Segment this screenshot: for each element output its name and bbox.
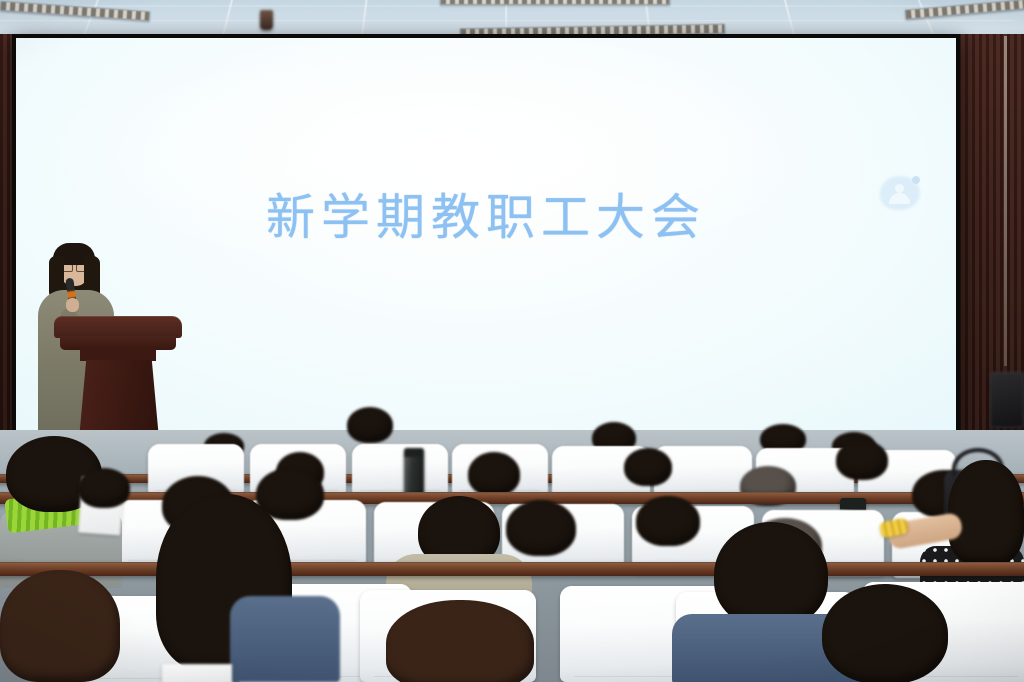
attendee-head xyxy=(948,460,1024,564)
podium-neck xyxy=(80,349,156,361)
ceiling-speaker xyxy=(260,10,273,30)
attendee-head xyxy=(386,600,534,682)
attendee-head xyxy=(78,468,130,508)
wooden-desk-rail xyxy=(0,562,1024,576)
attendee-head xyxy=(468,452,520,496)
user-avatar-icon xyxy=(880,176,920,210)
thermos-flask xyxy=(404,448,424,496)
podium-top xyxy=(54,316,182,338)
white-chair-cover xyxy=(352,444,448,496)
paper-handout xyxy=(162,664,232,682)
podium-lip xyxy=(60,336,176,350)
attendee-head xyxy=(506,500,576,556)
slide-title: 新学期教职工大会 xyxy=(16,178,956,249)
attendee-head xyxy=(624,448,672,486)
attendee-head xyxy=(347,407,393,443)
wall-seam xyxy=(1004,36,1007,366)
lecture-hall-photo: 新学期教职工大会 xyxy=(0,0,1024,682)
attendee-head xyxy=(714,522,828,628)
presenter-hand xyxy=(66,298,79,312)
attendee-navy-top xyxy=(230,596,340,682)
seating-row xyxy=(0,562,1024,582)
wall-mounted-monitor xyxy=(990,372,1024,428)
attendee-head xyxy=(822,584,948,682)
ceiling-air-vent xyxy=(440,0,670,5)
attendee-head xyxy=(836,440,888,480)
attendee-head xyxy=(636,496,700,546)
attendee-head xyxy=(0,570,120,682)
